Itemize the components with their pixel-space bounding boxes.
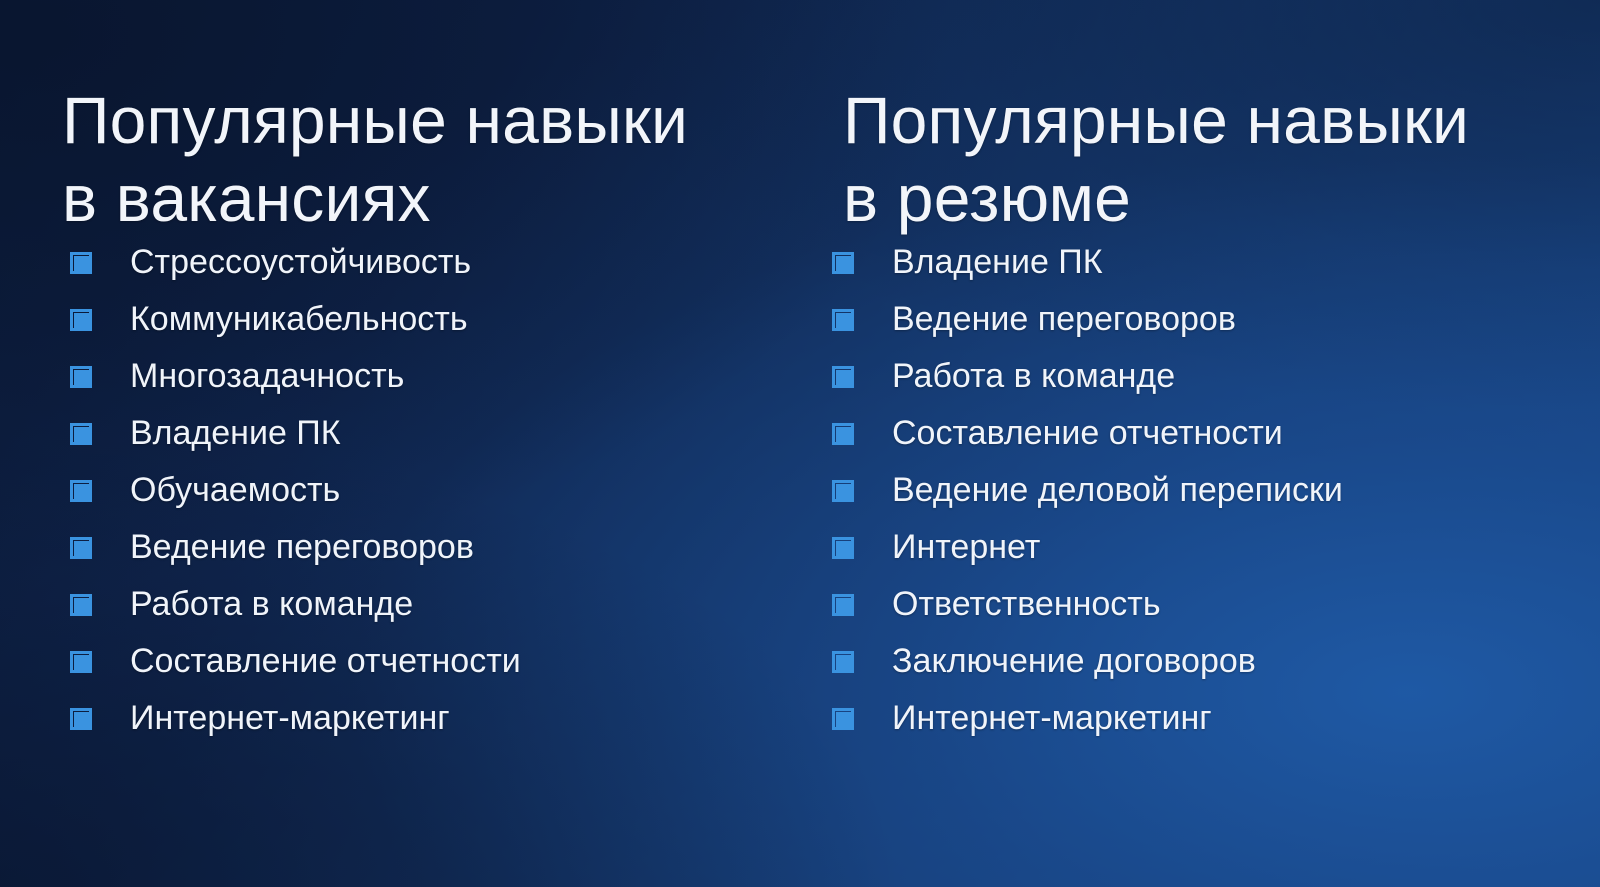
list-item[interactable]: Работа в команде bbox=[70, 575, 521, 632]
square-bullet-outline bbox=[70, 537, 92, 559]
square-bullet-icon bbox=[832, 366, 854, 388]
column-resumes: Популярные навыки в резюме Владение ПКВе… bbox=[800, 0, 1600, 887]
square-bullet-icon bbox=[832, 594, 854, 616]
square-bullet-icon bbox=[832, 651, 854, 673]
square-bullet-icon bbox=[70, 252, 92, 274]
list-item[interactable]: Интернет bbox=[832, 518, 1343, 575]
list-item[interactable]: Коммуникабельность bbox=[70, 290, 521, 347]
square-bullet-icon bbox=[832, 423, 854, 445]
skill-label: Владение ПК bbox=[130, 416, 341, 450]
square-bullet-icon bbox=[832, 252, 854, 274]
square-bullet-icon bbox=[832, 537, 854, 559]
skill-label: Коммуникабельность bbox=[130, 302, 468, 336]
square-bullet-outline bbox=[70, 651, 92, 673]
skill-label: Составление отчетности bbox=[130, 644, 521, 678]
skill-label: Интернет-маркетинг bbox=[892, 701, 1212, 735]
square-bullet-outline bbox=[70, 480, 92, 502]
square-bullet-outline bbox=[70, 309, 92, 331]
list-item[interactable]: Владение ПК bbox=[832, 233, 1343, 290]
square-bullet-icon bbox=[832, 309, 854, 331]
skill-label: Работа в команде bbox=[892, 359, 1175, 393]
skill-label: Владение ПК bbox=[892, 245, 1103, 279]
page-title-vacancies: Популярные навыки в вакансиях bbox=[62, 82, 688, 238]
square-bullet-icon bbox=[832, 480, 854, 502]
square-bullet-outline bbox=[832, 537, 854, 559]
list-item[interactable]: Интернет-маркетинг bbox=[70, 689, 521, 746]
square-bullet-outline bbox=[832, 252, 854, 274]
slide-root: Популярные навыки в вакансиях Стрессоуст… bbox=[0, 0, 1600, 887]
square-bullet-outline bbox=[832, 708, 854, 730]
list-item[interactable]: Составление отчетности bbox=[70, 632, 521, 689]
list-item[interactable]: Стрессоустойчивость bbox=[70, 233, 521, 290]
square-bullet-outline bbox=[832, 366, 854, 388]
skill-list-vacancies: СтрессоустойчивостьКоммуникабельностьМно… bbox=[70, 233, 521, 746]
square-bullet-icon bbox=[70, 537, 92, 559]
square-bullet-outline bbox=[70, 366, 92, 388]
square-bullet-outline bbox=[832, 651, 854, 673]
skill-label: Многозадачность bbox=[130, 359, 404, 393]
skill-label: Заключение договоров bbox=[892, 644, 1256, 678]
list-item[interactable]: Владение ПК bbox=[70, 404, 521, 461]
square-bullet-outline bbox=[70, 594, 92, 616]
square-bullet-outline bbox=[832, 423, 854, 445]
square-bullet-icon bbox=[70, 309, 92, 331]
square-bullet-icon bbox=[832, 708, 854, 730]
list-item[interactable]: Заключение договоров bbox=[832, 632, 1343, 689]
square-bullet-icon bbox=[70, 594, 92, 616]
square-bullet-icon bbox=[70, 708, 92, 730]
square-bullet-icon bbox=[70, 423, 92, 445]
square-bullet-outline bbox=[832, 480, 854, 502]
skill-label: Ведение переговоров bbox=[892, 302, 1236, 336]
skill-label: Интернет-маркетинг bbox=[130, 701, 450, 735]
square-bullet-outline bbox=[832, 309, 854, 331]
list-item[interactable]: Ведение переговоров bbox=[70, 518, 521, 575]
skill-label: Ответственность bbox=[892, 587, 1161, 621]
square-bullet-outline bbox=[832, 594, 854, 616]
skill-label: Обучаемость bbox=[130, 473, 340, 507]
list-item[interactable]: Интернет-маркетинг bbox=[832, 689, 1343, 746]
list-item[interactable]: Обучаемость bbox=[70, 461, 521, 518]
page-title-resumes: Популярные навыки в резюме bbox=[843, 82, 1469, 238]
skill-label: Стрессоустойчивость bbox=[130, 245, 471, 279]
skill-label: Интернет bbox=[892, 530, 1040, 564]
skill-label: Работа в команде bbox=[130, 587, 413, 621]
list-item[interactable]: Ответственность bbox=[832, 575, 1343, 632]
list-item[interactable]: Многозадачность bbox=[70, 347, 521, 404]
square-bullet-icon bbox=[70, 366, 92, 388]
list-item[interactable]: Работа в команде bbox=[832, 347, 1343, 404]
list-item[interactable]: Ведение переговоров bbox=[832, 290, 1343, 347]
skill-label: Ведение деловой переписки bbox=[892, 473, 1343, 507]
square-bullet-outline bbox=[70, 252, 92, 274]
square-bullet-outline bbox=[70, 423, 92, 445]
square-bullet-outline bbox=[70, 708, 92, 730]
square-bullet-icon bbox=[70, 480, 92, 502]
list-item[interactable]: Составление отчетности bbox=[832, 404, 1343, 461]
square-bullet-icon bbox=[70, 651, 92, 673]
skill-label: Составление отчетности bbox=[892, 416, 1283, 450]
skill-label: Ведение переговоров bbox=[130, 530, 474, 564]
list-item[interactable]: Ведение деловой переписки bbox=[832, 461, 1343, 518]
column-vacancies: Популярные навыки в вакансиях Стрессоуст… bbox=[0, 0, 800, 887]
skill-list-resumes: Владение ПКВедение переговоровРабота в к… bbox=[832, 233, 1343, 746]
